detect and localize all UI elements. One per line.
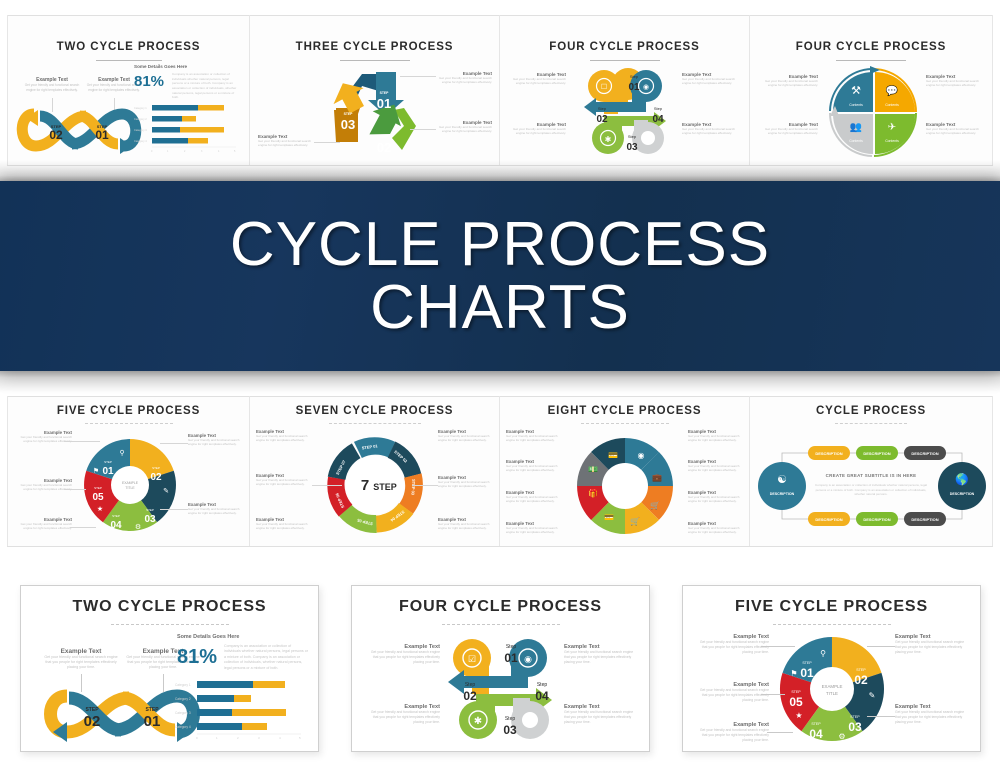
slide-cycle-process-flow[interactable]: CYCLE PROCESS DESCRIPTIONDESCRIPTIONDESC… [750,397,992,546]
example-label-2: Example Text Get your friendly and funct… [12,478,72,492]
svg-text:Contents: Contents [885,139,899,143]
example-label-3: Example Text Get your friendly and funct… [695,722,769,743]
svg-text:Step: Step [598,106,607,111]
example-label-3: Example Text Get your friendly and funct… [12,517,72,531]
example-label-1: Example Text Get your friendly and funct… [436,71,492,85]
svg-text:1: 1 [216,736,218,740]
svg-text:⚲: ⚲ [119,449,124,457]
leader-3 [767,732,793,733]
svg-text:0: 0 [151,150,153,153]
svg-text:Contents: Contents [849,103,863,107]
svg-text:⚙: ⚙ [135,523,141,531]
title-underline [773,624,891,625]
leader-left [312,485,342,486]
example-label-3: Example Text Get your friendly and funct… [682,72,740,86]
example-label-2: Example Text Get your friendly and funct… [368,704,440,725]
svg-text:05: 05 [789,695,803,709]
slide-title: TWO CYCLE PROCESS [21,598,318,616]
svg-text:EXAMPLE: EXAMPLE [822,684,843,689]
svg-text:✱: ✱ [605,135,612,144]
eight-segment-donut: ◉💼 🛒🛒 💳🎁 💵💳 [572,431,678,541]
svg-text:Contents: Contents [849,139,863,143]
leader-3 [70,527,96,528]
leader-4 [160,443,188,444]
svg-text:⚲: ⚲ [820,649,826,658]
leader-5 [867,716,895,717]
svg-text:🛒: 🛒 [630,516,640,526]
details-heading: Some Details Goes Here [177,634,239,640]
svg-text:01: 01 [144,713,161,730]
stacked-bar-chart: Category 1Category 2 Category 3Category … [173,678,313,740]
svg-text:Category 3: Category 3 [175,711,191,715]
svg-text:04: 04 [652,114,664,125]
svg-text:Category 2: Category 2 [134,117,147,121]
example-label-3: Example Text Get your friendly and funct… [256,517,312,531]
leader-1 [64,441,100,442]
title-banner: CYCLE PROCESS CHARTS [0,181,1000,371]
svg-text:02: 02 [49,128,63,142]
svg-text:☐: ☐ [601,83,607,91]
svg-text:STEP: STEP [112,514,120,518]
row1-bottom-rule [7,165,993,166]
svg-text:01: 01 [800,666,814,680]
svg-text:💳: 💳 [608,451,618,460]
example-label-4: Example Text Get your friendly and funct… [188,433,246,447]
svg-text:DESCRIPTION: DESCRIPTION [863,451,890,456]
example-label-5: Example Text Get your friendly and funct… [895,704,969,725]
infinity-loop-diagram: STEP 02 STEP 01 [14,102,144,160]
svg-text:✎: ✎ [163,488,169,495]
svg-text:DESCRIPTION: DESCRIPTION [911,451,938,456]
example-label-8: Example Text Get your friendly and funct… [688,521,744,535]
svg-text:✎: ✎ [869,691,876,700]
svg-text:Contents: Contents [885,103,899,107]
svg-text:🌎: 🌎 [955,473,969,486]
svg-text:5: 5 [234,150,236,153]
card-two-cycle-process[interactable]: TWO CYCLE PROCESS Example Text Get your … [20,585,319,752]
svg-text:⚙: ⚙ [838,732,845,741]
svg-text:Step: Step [654,106,663,111]
example-label-3: Example Text Get your friendly and funct… [564,644,636,665]
svg-text:03: 03 [341,117,355,132]
svg-text:☑: ☑ [468,654,476,664]
svg-text:Category 1: Category 1 [175,683,191,687]
five-segment-donut: STEP01 STEP02 STEP03 STEP04 STEP05 ⚲✎ ⚙★… [771,632,893,746]
svg-text:01: 01 [102,466,114,477]
svg-text:STEP: STEP [373,482,397,492]
svg-text:Step: Step [630,74,639,79]
four-loop-diagram: ☑ ◉ ✱ Step01 Step02 Step03 Step04 [440,632,562,744]
svg-text:3: 3 [258,736,260,740]
svg-text:04: 04 [809,727,823,741]
svg-text:03: 03 [848,720,862,734]
slide-seven-cycle-process[interactable]: SEVEN CYCLE PROCESS [250,397,499,546]
title-underline [442,624,560,625]
svg-text:Category 3: Category 3 [134,128,147,132]
svg-text:✈: ✈ [888,122,896,133]
svg-text:💬: 💬 [886,84,899,97]
svg-text:STEP: STEP [850,715,860,719]
svg-text:Step: Step [465,682,476,688]
example-label-1: Example Text Get your friendly and funct… [695,634,769,655]
svg-text:🎁: 🎁 [588,488,598,498]
svg-text:STEP: STEP [380,91,390,95]
svg-text:DESCRIPTION: DESCRIPTION [950,492,975,496]
poster-canvas: TWO CYCLE PROCESS Example Text Get your … [0,0,1000,778]
svg-text:DESCRIPTION: DESCRIPTION [911,517,938,522]
leader-1 [400,76,436,77]
svg-text:4: 4 [279,736,281,740]
svg-text:Step: Step [537,682,548,688]
svg-text:Category 4: Category 4 [175,725,191,729]
svg-text:02: 02 [377,140,391,155]
svg-text:03: 03 [144,514,156,525]
slide-five-cycle-process-top[interactable]: FIVE CYCLE PROCESS STEP01 STEP02 STEP03 … [8,397,249,546]
svg-text:02: 02 [150,472,162,483]
four-loop-diagram: ☐ ◉ ✱ Step01 Step02 Step03 Step04 [574,64,676,162]
svg-text:STEP: STEP [152,466,160,470]
example-label-2: Example Text Get your friendly and funct… [756,122,818,136]
example-label-1: Example Text Get your friendly and funct… [508,72,566,86]
svg-text:💼: 💼 [652,473,662,482]
svg-text:01: 01 [628,82,640,93]
row2-right-rule [992,396,993,546]
svg-text:01: 01 [377,96,391,111]
example-label-6: Example Text Get your friendly and funct… [438,517,494,531]
svg-text:7: 7 [361,477,369,494]
leader-1 [761,646,795,647]
svg-text:Category 4: Category 4 [134,139,147,143]
example-label-4: Example Text Get your friendly and funct… [564,704,636,725]
example-label-1: Example Text Get your friendly and funct… [12,430,72,444]
svg-text:STEP: STEP [94,486,102,490]
example-label-5: Example Text Get your friendly and funct… [438,475,494,489]
leader-5 [160,509,188,510]
example-label-2: Example Text Get your friendly and funct… [506,459,562,473]
title-underline [835,423,907,424]
slide-title: FIVE CYCLE PROCESS [8,405,249,417]
svg-text:04: 04 [110,520,122,531]
svg-text:STEP: STEP [146,508,154,512]
svg-text:1: 1 [167,150,169,153]
stacked-bar-chart: Category 1Category 2 Category 3Category … [132,102,244,154]
slide-eight-cycle-process[interactable]: EIGHT CYCLE PROCESS ◉💼 🛒🛒 💳🎁 💵💳 [500,397,749,546]
example-label-5: Example Text Get your friendly and funct… [188,502,246,516]
leader-3 [314,142,340,143]
svg-text:Category 1: Category 1 [134,106,147,110]
svg-text:STEP: STEP [791,690,801,694]
example-label-1: Example Text Get your friendly and funct… [506,429,562,443]
svg-text:Step: Step [505,716,516,722]
svg-text:02: 02 [854,673,868,687]
recycle-arrows-diagram: STEP 01 STEP 02 STEP 03 [318,64,430,162]
quadrant-circle-diagram: ⚒Contents 💬Contents ✈Contents 👥Contents [830,66,916,158]
slide-title: EIGHT CYCLE PROCESS [500,405,749,417]
svg-text:Step: Step [628,134,637,139]
example-label-3: Example Text Get your friendly and funct… [506,490,562,504]
example-label-4: Example Text Get your friendly and funct… [926,122,988,136]
svg-text:STEP: STEP [344,112,354,116]
banner-shadow-bottom [0,371,1000,393]
example-label-1: Example Text Get your friendly and funct… [368,644,440,665]
title-underline [340,60,410,61]
svg-text:⚒: ⚒ [851,85,861,97]
details-body: Company is an association or collection … [224,644,308,671]
example-label-1: Example Text Get your friendly and funct… [756,74,818,88]
svg-text:✱: ✱ [474,716,482,727]
banner-line-1: CYCLE PROCESS [230,213,770,276]
svg-text:04: 04 [535,689,549,703]
slide-title: THREE CYCLE PROCESS [250,41,499,53]
svg-text:01: 01 [504,651,518,665]
percent-value: 81% [177,646,217,669]
slide-four-cycle-process-quadrant[interactable]: FOUR CYCLE PROCESS ⚒Contents 💬Contents ✈… [750,16,992,165]
svg-text:2: 2 [184,150,186,153]
center-heading: CREATE GREAT SUBTITLE IS IN HERE [816,473,926,478]
example-label-2: Example Text Get your friendly and funct… [256,473,312,487]
leader-2 [761,694,785,695]
percent-value: 81% [134,73,164,90]
svg-text:👥: 👥 [850,122,862,133]
slide-title: FOUR CYCLE PROCESS [750,41,992,53]
title-underline [329,423,421,424]
example-label-4: Example Text Get your friendly and funct… [682,122,740,136]
leader-2 [64,489,86,490]
svg-text:02: 02 [84,713,101,730]
svg-text:💳: 💳 [604,513,614,522]
svg-text:03: 03 [503,723,517,737]
example-label-2: Example Text Get your friendly and funct… [436,120,492,134]
example-label-1: Example Text Get your friendly and funct… [24,77,80,92]
slide-title: TWO CYCLE PROCESS [8,41,249,53]
svg-text:Category 2: Category 2 [175,697,191,701]
svg-text:STEP: STEP [380,135,390,139]
example-label-2: Example Text Get your friendly and funct… [508,122,566,136]
svg-text:DESCRIPTION: DESCRIPTION [863,517,890,522]
svg-text:TITLE: TITLE [826,691,838,696]
svg-text:EXAMPLE: EXAMPLE [122,481,139,485]
leader-4 [867,646,895,647]
example-label-5: Example Text Get your friendly and funct… [688,429,744,443]
example-label-6: Example Text Get your friendly and funct… [688,459,744,473]
slide-three-cycle-process[interactable]: THREE CYCLE PROCESS STEP 01 STEP 02 STEP… [250,16,499,165]
svg-text:🛒: 🛒 [650,500,660,510]
svg-text:★: ★ [795,711,802,720]
svg-text:💵: 💵 [588,465,598,474]
svg-text:⚑: ⚑ [790,669,797,678]
svg-text:4: 4 [218,150,220,153]
svg-text:STEP: STEP [802,661,812,665]
slide-title: CYCLE PROCESS [750,405,992,417]
svg-text:05: 05 [92,492,104,503]
svg-text:STEP: STEP [104,460,112,464]
slide-four-cycle-process-loops[interactable]: FOUR CYCLE PROCESS ☐ ◉ [500,16,749,165]
example-label-1: Example Text Get your friendly and funct… [43,648,119,671]
row2-bottom-rule [7,546,993,547]
title-underline [96,60,162,61]
details-body: Company is an association or collection … [172,72,238,100]
five-segment-donut: STEP01 STEP02 STEP03 STEP04 STEP05 ⚲✎ ⚙★… [82,430,178,540]
svg-text:STEP: STEP [811,722,821,726]
svg-text:TITLE: TITLE [125,486,135,490]
svg-text:02: 02 [463,689,477,703]
slide-title: FOUR CYCLE PROCESS [352,598,649,616]
svg-text:◉: ◉ [524,654,532,664]
leader-right [412,485,438,486]
example-label-2: Example Text Get your friendly and funct… [695,682,769,703]
banner-line-2: CHARTS [370,276,630,339]
title-underline [590,60,660,61]
leader-2 [410,129,436,130]
svg-text:5: 5 [299,736,301,740]
example-label-1: Example Text Get your friendly and funct… [256,429,312,443]
svg-text:3: 3 [201,150,203,153]
title-underline [581,423,669,424]
svg-text:03: 03 [626,142,638,153]
svg-text:02: 02 [596,114,608,125]
svg-text:◉: ◉ [638,451,645,460]
example-label-3: Example Text Get your friendly and funct… [926,74,988,88]
example-label-3: Example Text Get your friendly and funct… [258,134,314,148]
example-label-4: Example Text Get your friendly and funct… [506,521,562,535]
center-body: Company is an association or collection … [812,483,930,497]
row1-right-rule [992,15,993,165]
svg-text:DESCRIPTION: DESCRIPTION [770,492,795,496]
slide-title: FOUR CYCLE PROCESS [500,41,749,53]
svg-text:01: 01 [95,128,109,142]
title-underline [111,624,229,625]
slide-title: SEVEN CYCLE PROCESS [250,405,499,417]
svg-text:⚑: ⚑ [93,467,99,475]
svg-text:0: 0 [196,736,198,740]
svg-text:☯: ☯ [777,474,787,486]
slide-two-cycle-process-top[interactable]: TWO CYCLE PROCESS Example Text Get your … [8,16,249,165]
svg-text:Step: Step [506,644,517,650]
svg-text:★: ★ [97,505,103,513]
svg-text:STEP 03: STEP 03 [410,479,416,496]
svg-text:DESCRIPTION: DESCRIPTION [815,517,842,522]
svg-text:2: 2 [237,736,239,740]
svg-text:◉: ◉ [643,84,649,91]
example-label-4: Example Text Get your friendly and funct… [895,634,969,655]
slide-title: FIVE CYCLE PROCESS [683,598,980,616]
example-label-7: Example Text Get your friendly and funct… [688,490,744,504]
card-four-cycle-process[interactable]: FOUR CYCLE PROCESS ☑ ◉ ✱ Step01 Step [351,585,650,752]
details-heading: Some Details Goes Here [134,64,187,69]
svg-text:DESCRIPTION: DESCRIPTION [815,451,842,456]
title-underline [85,423,173,424]
title-underline [836,60,906,61]
card-five-cycle-process[interactable]: FIVE CYCLE PROCESS STEP01 STEP02 STEP03 … [682,585,981,752]
svg-text:STEP: STEP [856,668,866,672]
example-label-4: Example Text Get your friendly and funct… [438,429,494,443]
